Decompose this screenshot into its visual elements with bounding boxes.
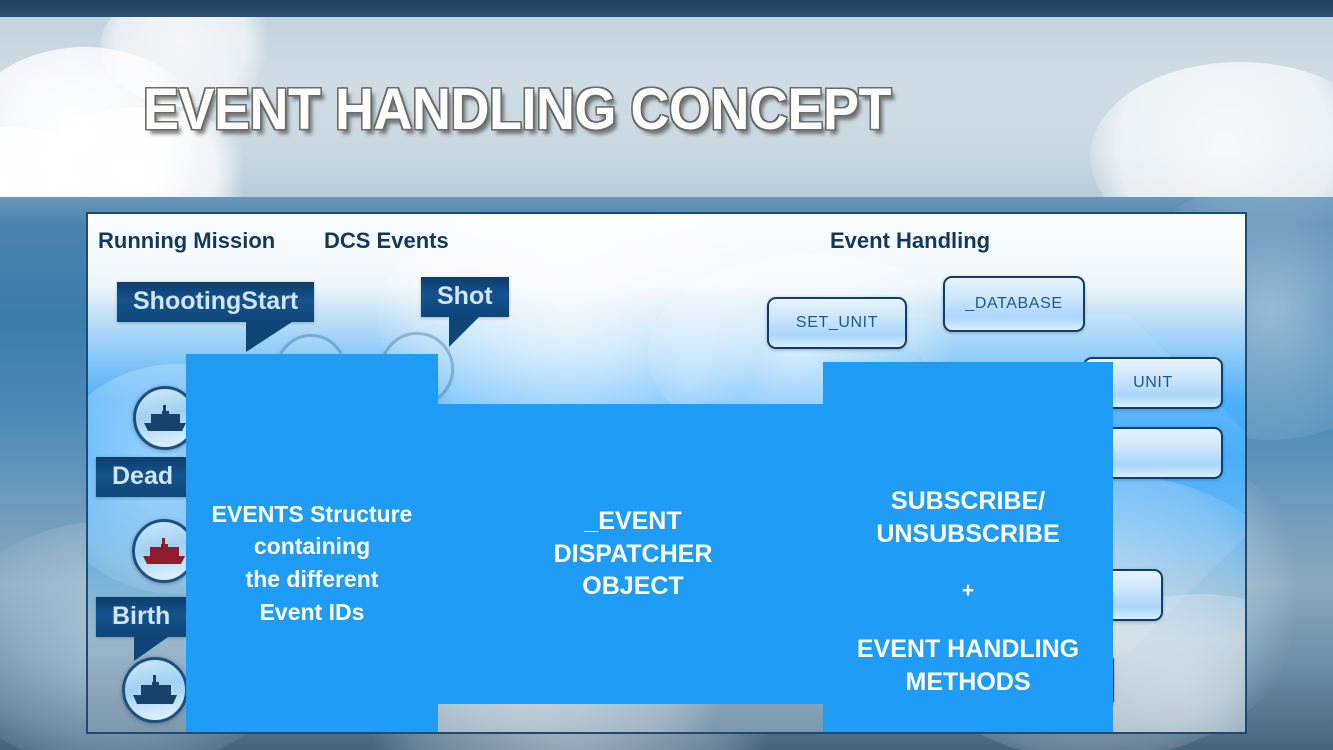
overlay-line: METHODS [906, 666, 1031, 699]
event-callout-dead[interactable]: Dead [96, 457, 189, 497]
slide-canvas: EVENT HANDLING CONCEPT Running Mission D… [0, 0, 1333, 750]
overlay-subscribe-methods: SUBSCRIBE/ UNSUBSCRIBE + EVENT HANDLING … [823, 362, 1113, 734]
page-title: EVENT HANDLING CONCEPT [143, 76, 891, 143]
overlay-plus-sign: + [962, 577, 974, 605]
overlay-line: the different [246, 563, 379, 596]
ship-blue-icon [122, 657, 188, 723]
overlay-line: Event IDs [260, 596, 365, 629]
api-box-database[interactable]: _DATABASE [943, 276, 1085, 332]
overlay-line: OBJECT [582, 570, 683, 603]
section-header-event-handling: Event Handling [830, 228, 990, 254]
event-callout-label: Shot [437, 282, 493, 310]
overlay-events-structure: EVENTS Structure containing the differen… [186, 354, 438, 734]
event-callout-label: ShootingStart [133, 287, 298, 315]
overlay-line: EVENT HANDLING [857, 633, 1079, 666]
overlay-line: DISPATCHER [554, 538, 713, 571]
callout-tail-icon [246, 322, 292, 352]
overlay-line: containing [254, 530, 370, 563]
top-accent-bar [0, 0, 1333, 17]
api-box-label: SET_UNIT [796, 314, 878, 332]
overlay-line: _EVENT [584, 505, 681, 538]
diagram-panel: Running Mission DCS Events Event Handlin… [86, 212, 1247, 734]
overlay-line: UNSUBSCRIBE [876, 518, 1059, 551]
section-header-running-mission: Running Mission [98, 228, 275, 254]
overlay-line: EVENTS Structure [212, 498, 413, 531]
event-callout-label: Birth [112, 602, 170, 630]
api-box-set-unit[interactable]: SET_UNIT [767, 297, 907, 349]
event-callout-shootingstart[interactable]: ShootingStart [117, 282, 314, 322]
callout-tail-icon [134, 637, 168, 661]
overlay-event-dispatcher: _EVENT DISPATCHER OBJECT [438, 404, 828, 704]
api-box-label: UNIT [1133, 374, 1173, 392]
cloud-decoration [1090, 62, 1333, 197]
event-callout-birth[interactable]: Birth [96, 597, 186, 637]
section-header-dcs-events: DCS Events [324, 228, 449, 254]
callout-tail-icon [449, 317, 479, 347]
event-callout-shot[interactable]: Shot [421, 277, 509, 317]
api-box-label: _DATABASE [965, 295, 1062, 313]
overlay-line: SUBSCRIBE/ [891, 485, 1045, 518]
event-callout-label: Dead [112, 462, 173, 490]
